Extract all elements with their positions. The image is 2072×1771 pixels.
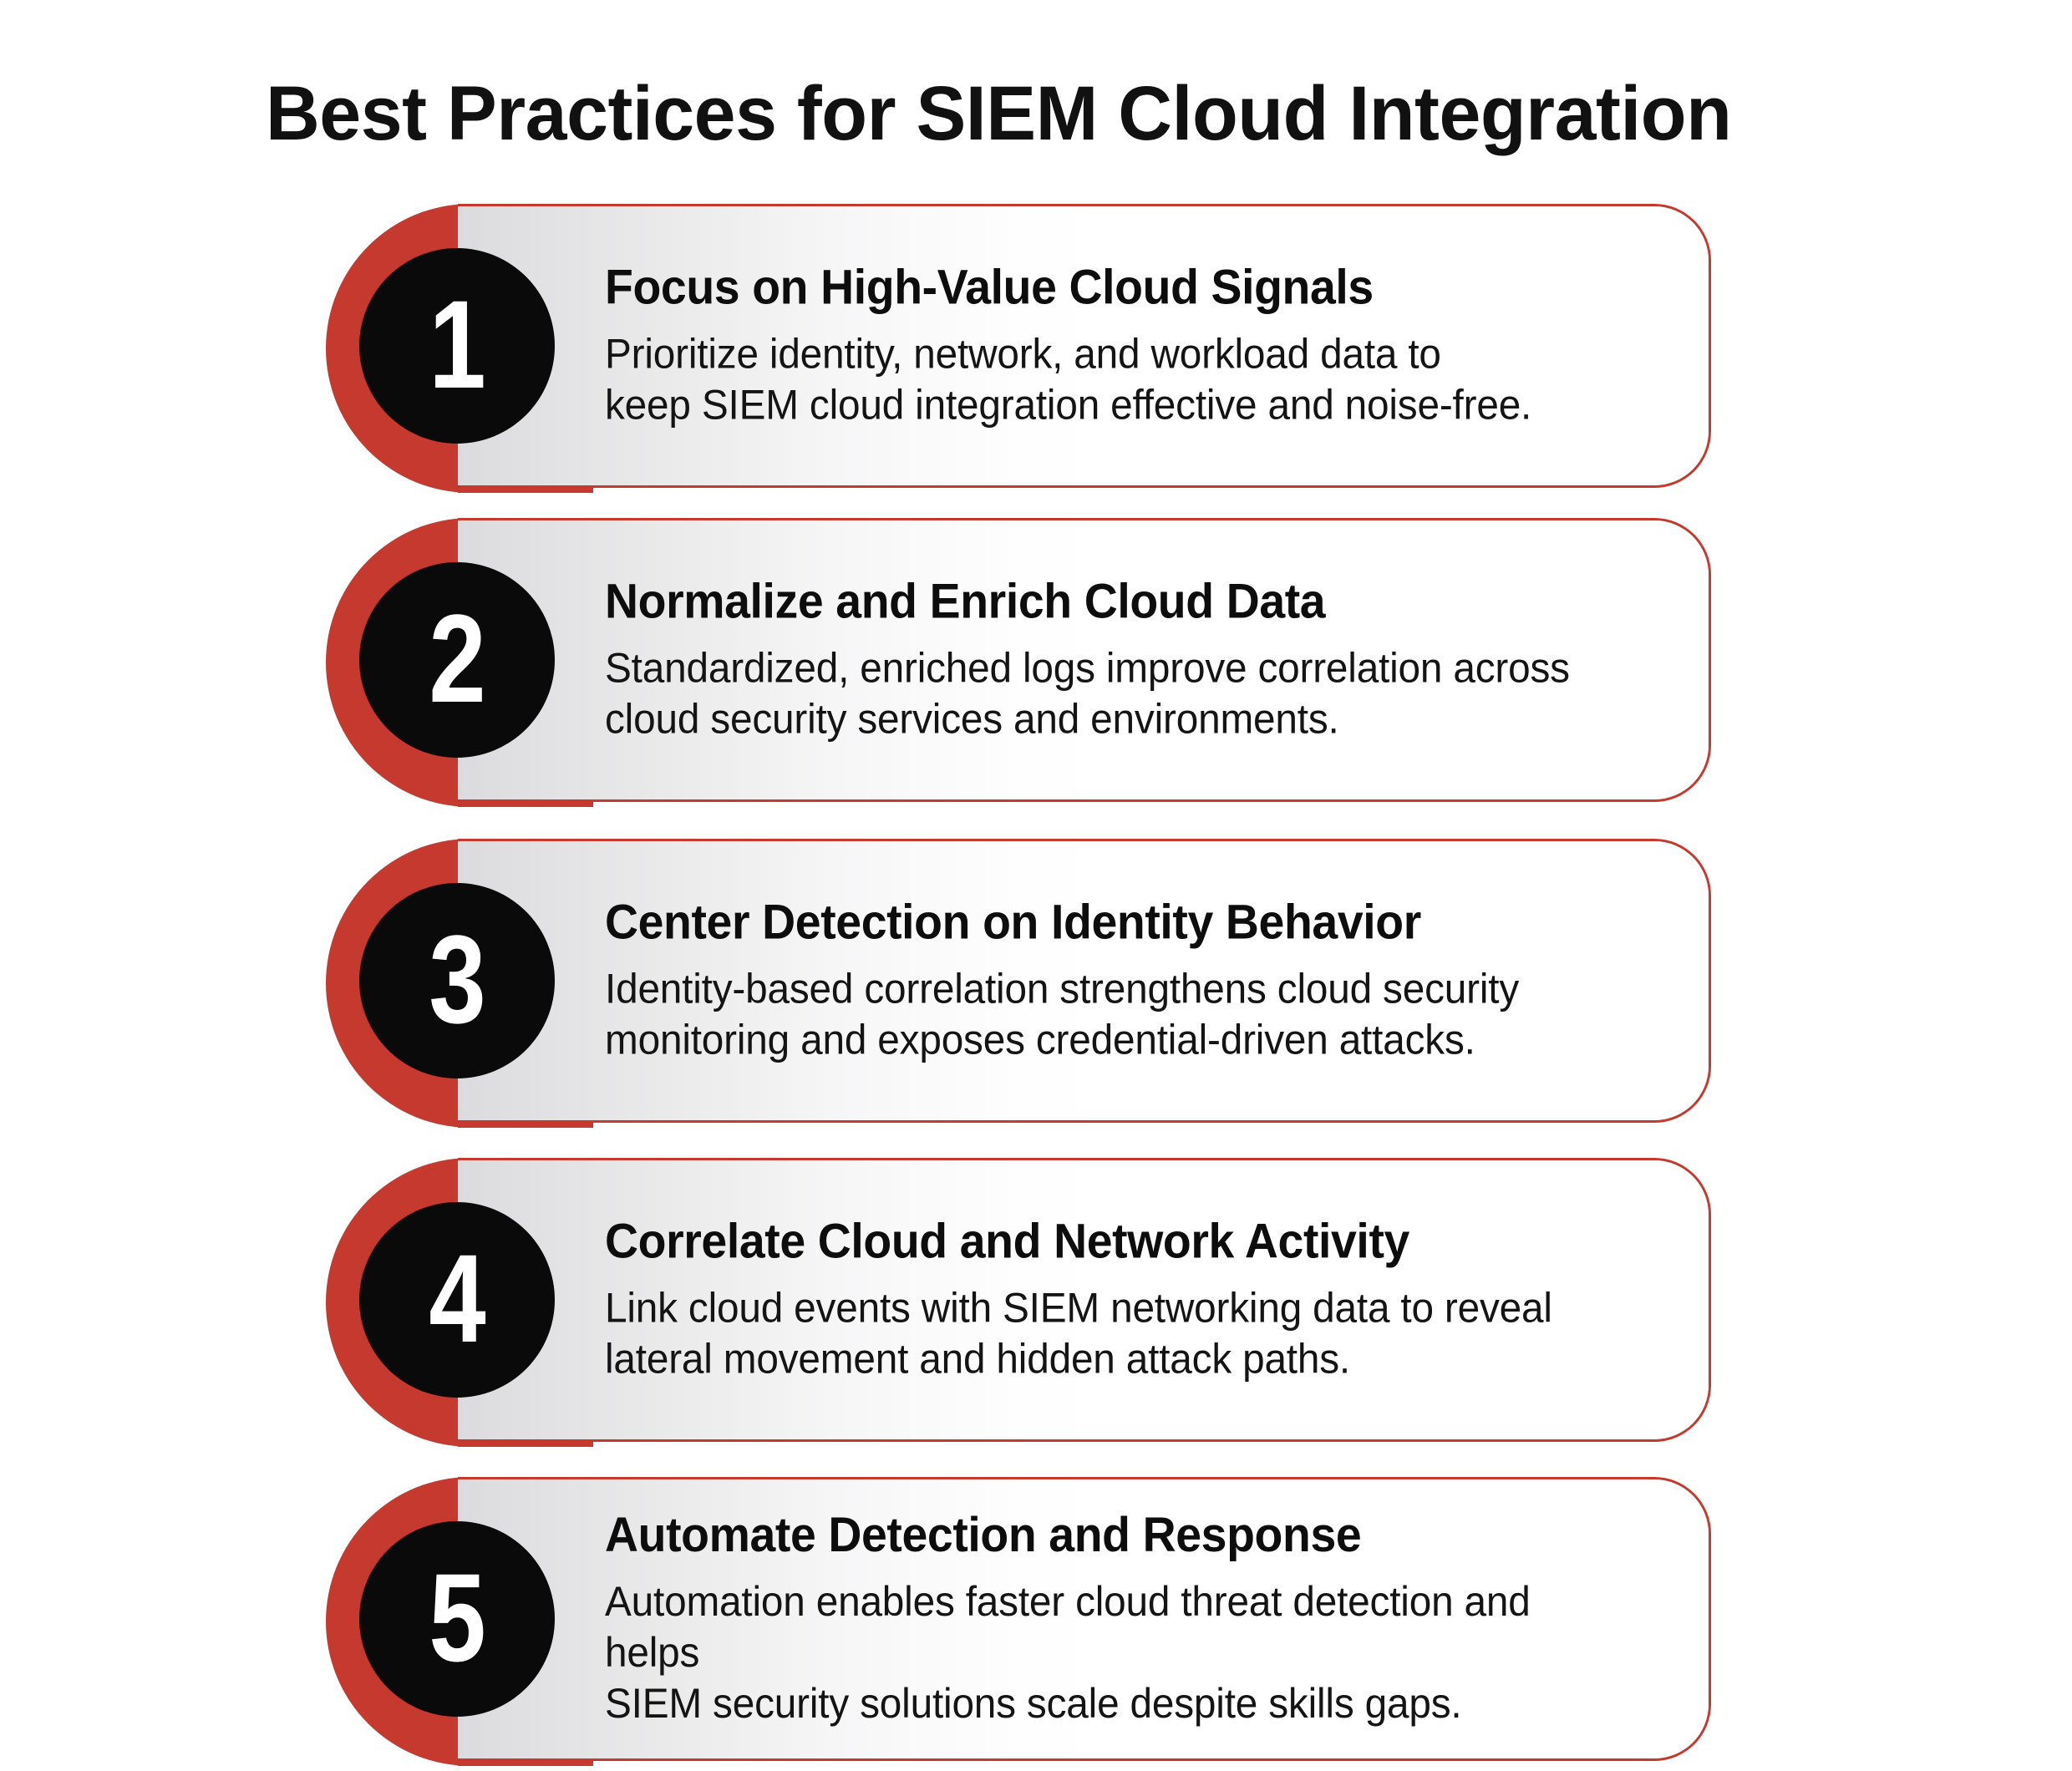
step-card-4: 4 Correlate Cloud and Network Activity L…: [458, 1158, 1711, 1442]
step-number-5: 5: [429, 1555, 485, 1680]
step-card-5: 5 Automate Detection and Response Automa…: [458, 1477, 1711, 1761]
step-card-2: 2 Normalize and Enrich Cloud Data Standa…: [458, 518, 1711, 802]
step-number-badge-1: 1: [359, 248, 555, 444]
step-text-block-2: Normalize and Enrich Cloud Data Standard…: [605, 576, 1650, 745]
step-number-badge-2: 2: [359, 562, 555, 758]
step-number-2: 2: [429, 596, 485, 721]
step-text-block-1: Focus on High-Value Cloud Signals Priori…: [605, 261, 1650, 431]
steps-list: 1 Focus on High-Value Cloud Signals Prio…: [0, 0, 2072, 1771]
step-heading-2: Normalize and Enrich Cloud Data: [605, 576, 1603, 630]
step-heading-1: Focus on High-Value Cloud Signals: [605, 261, 1603, 316]
step-number-badge-3: 3: [359, 883, 555, 1078]
step-number-badge-5: 5: [359, 1521, 555, 1717]
step-body-1: Prioritize identity, network, and worklo…: [605, 328, 1603, 430]
step-text-block-5: Automate Detection and Response Automati…: [605, 1509, 1650, 1729]
step-card-1: 1 Focus on High-Value Cloud Signals Prio…: [458, 204, 1711, 488]
step-number-4: 4: [429, 1236, 485, 1361]
step-number-1: 1: [429, 282, 485, 407]
step-text-block-4: Correlate Cloud and Network Activity Lin…: [605, 1215, 1650, 1385]
step-body-5: Automation enables faster cloud threat d…: [605, 1576, 1603, 1729]
step-heading-3: Center Detection on Identity Behavior: [605, 896, 1603, 951]
step-card-3: 3 Center Detection on Identity Behavior …: [458, 839, 1711, 1123]
step-body-4: Link cloud events with SIEM networking d…: [605, 1282, 1603, 1384]
step-text-block-3: Center Detection on Identity Behavior Id…: [605, 896, 1650, 1066]
step-body-3: Identity-based correlation strengthens c…: [605, 963, 1603, 1065]
step-heading-5: Automate Detection and Response: [605, 1509, 1603, 1563]
step-body-2: Standardized, enriched logs improve corr…: [605, 642, 1603, 744]
step-heading-4: Correlate Cloud and Network Activity: [605, 1215, 1603, 1270]
step-number-badge-4: 4: [359, 1202, 555, 1398]
step-number-3: 3: [429, 916, 485, 1042]
